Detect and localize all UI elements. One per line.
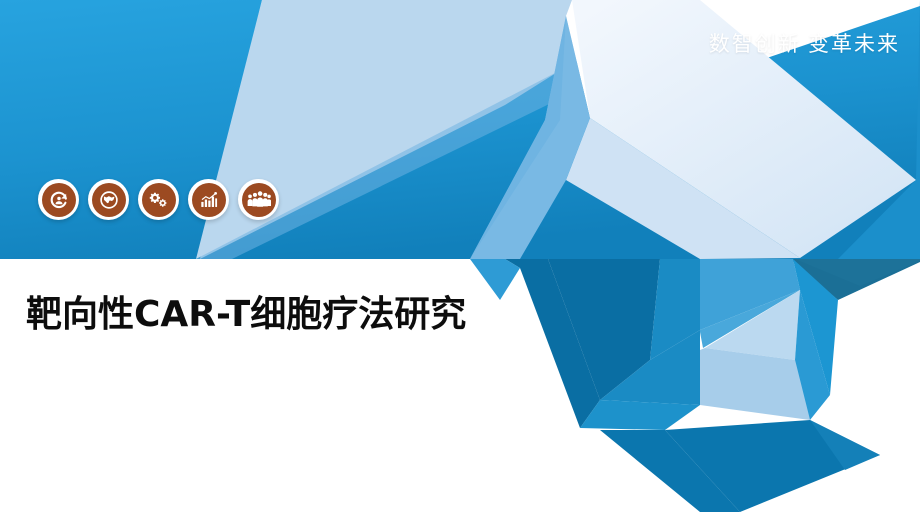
background-artwork bbox=[0, 0, 920, 518]
presentation-slide: 数智创新 变革未来 bbox=[0, 0, 920, 518]
people-group-icon bbox=[242, 183, 276, 217]
icon-badge-bar-chart[interactable] bbox=[188, 179, 229, 220]
gears-icon bbox=[142, 183, 176, 217]
page-title: 靶向性CAR-T细胞疗法研究 bbox=[26, 297, 466, 333]
icon-row bbox=[38, 179, 279, 220]
refresh-cycle-icon bbox=[42, 183, 76, 217]
bar-chart-icon bbox=[192, 183, 226, 217]
globe-icon bbox=[92, 183, 126, 217]
icon-badge-gears[interactable] bbox=[138, 179, 179, 220]
icon-badge-globe[interactable] bbox=[88, 179, 129, 220]
slide-tagline: 数智创新 变革未来 bbox=[709, 28, 900, 58]
icon-badge-people[interactable] bbox=[238, 179, 279, 220]
icon-badge-refresh[interactable] bbox=[38, 179, 79, 220]
